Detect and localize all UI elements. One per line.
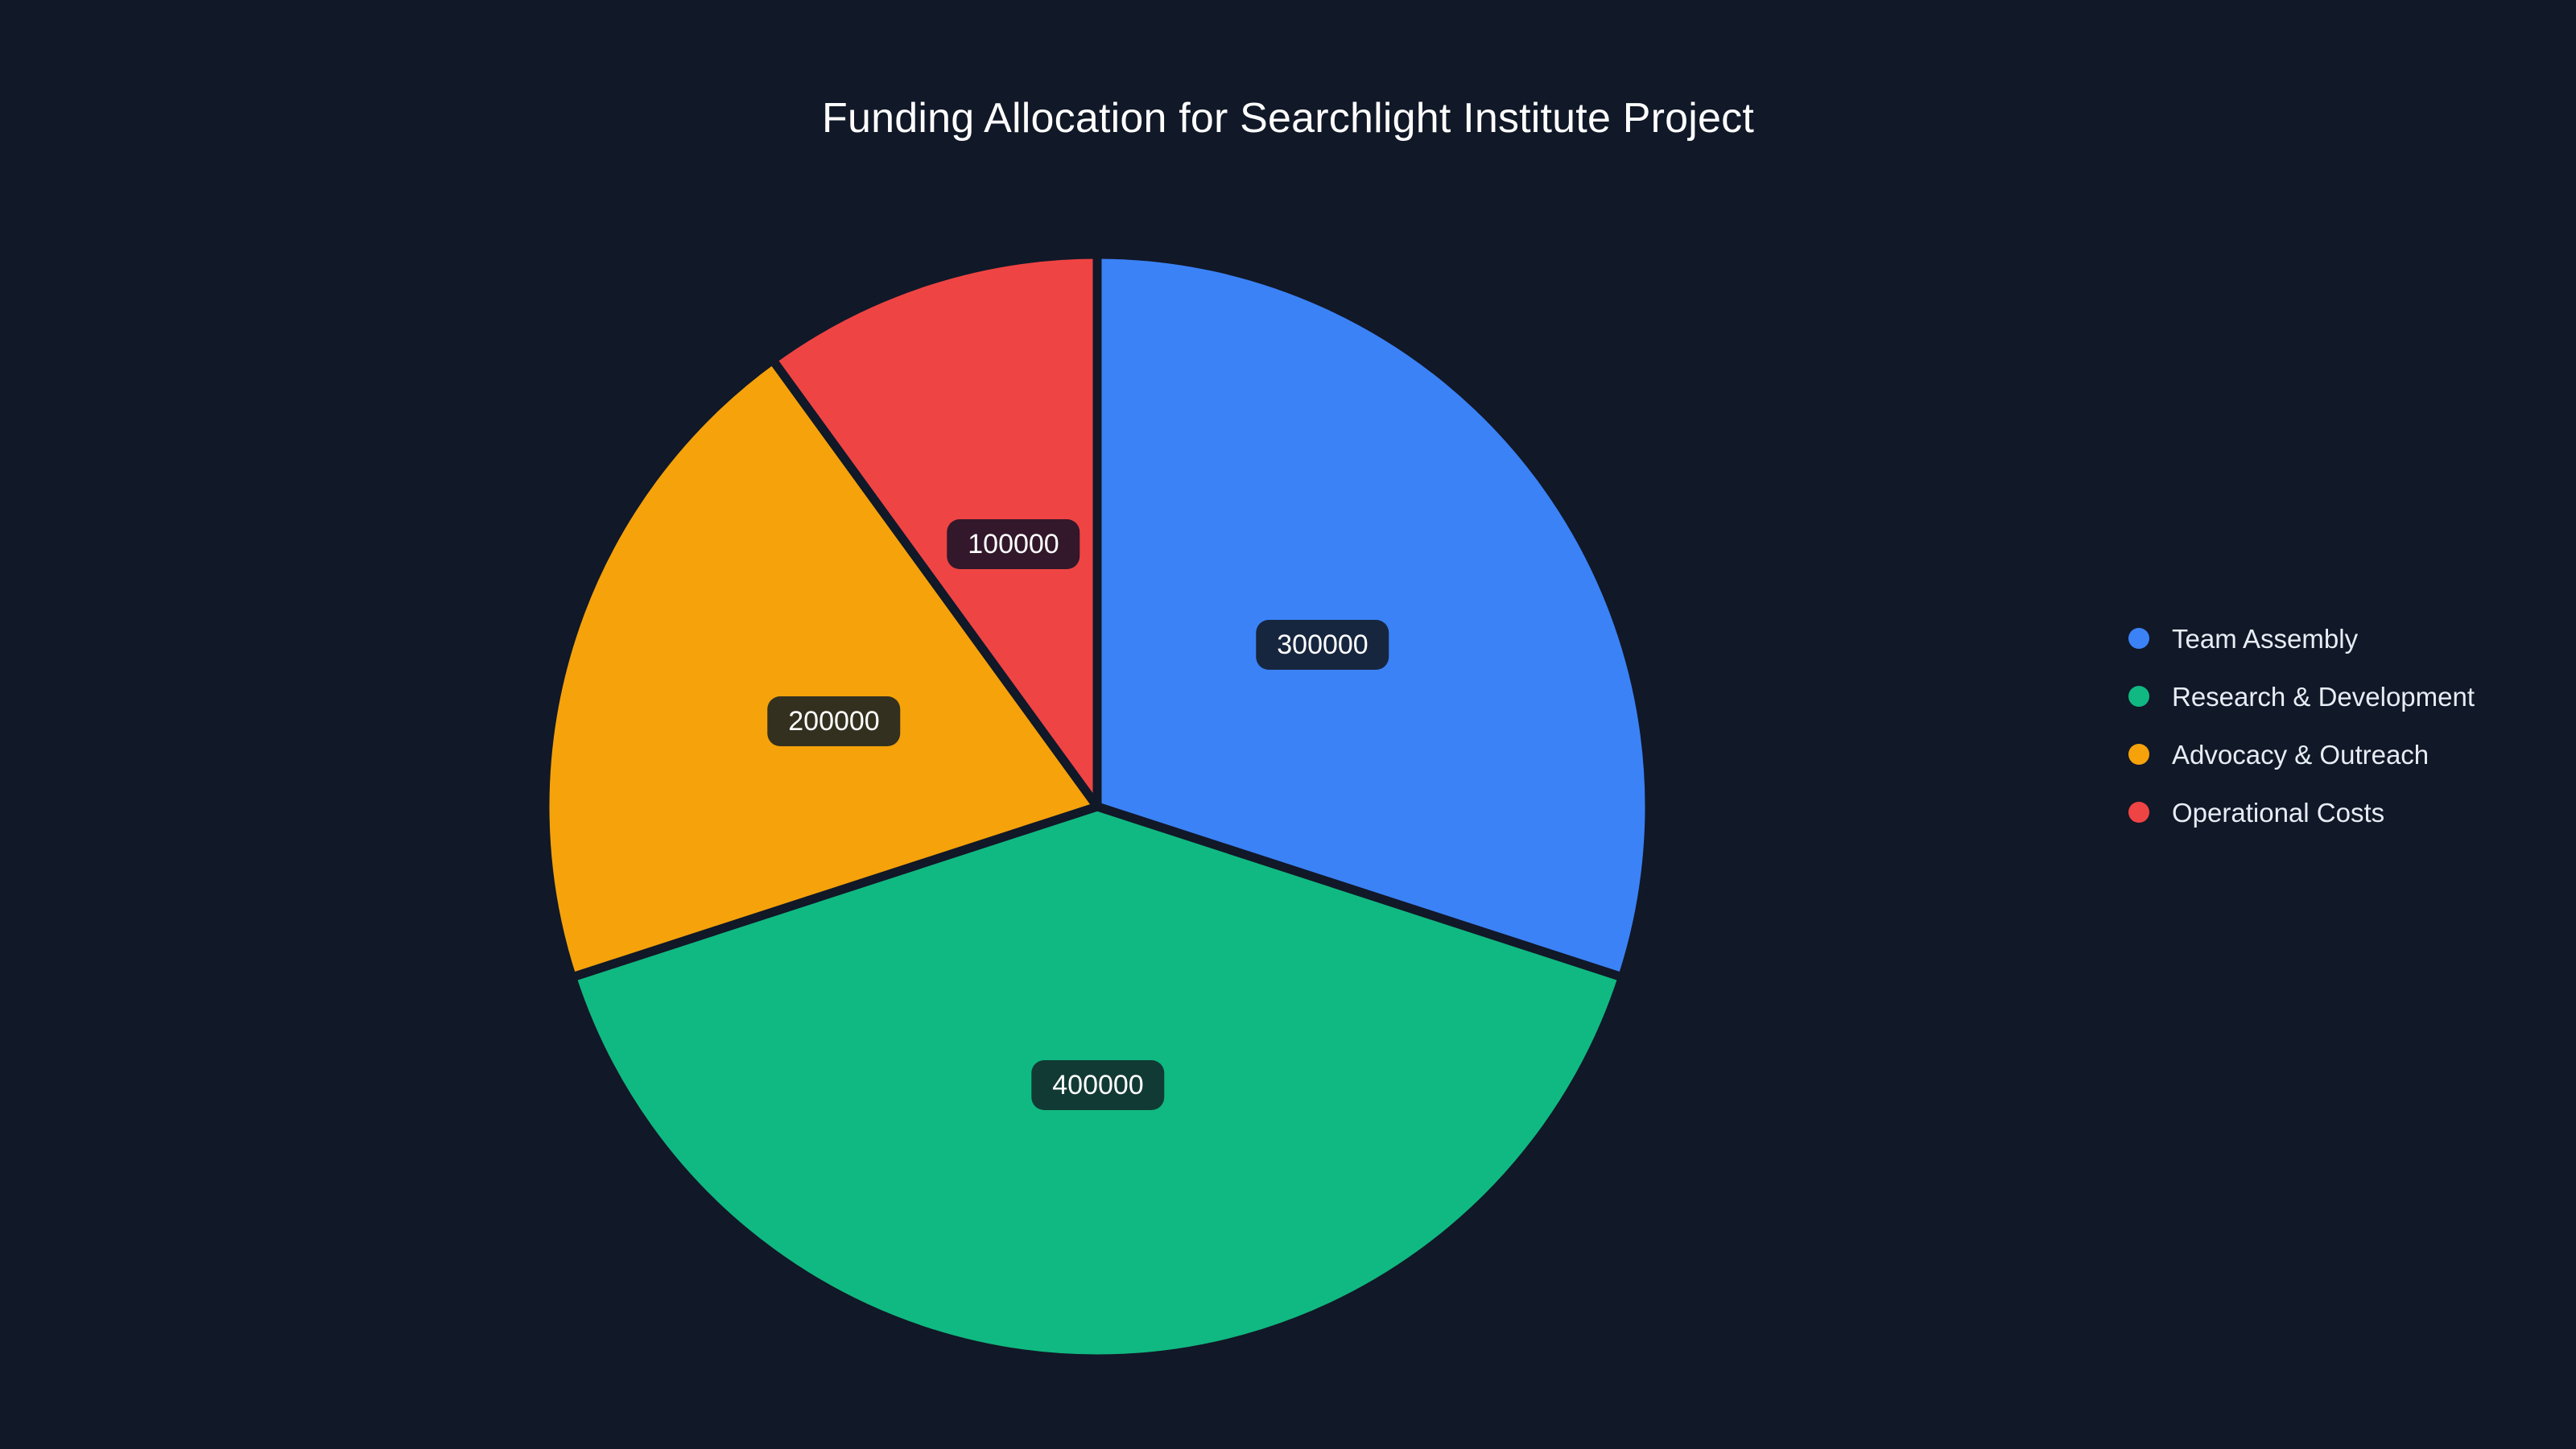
chart-canvas: Funding Allocation for Searchlight Insti… [0,0,2576,1449]
pie-slice-value-label: 100000 [947,519,1080,569]
chart-legend: Team AssemblyResearch & DevelopmentAdvoc… [2128,609,2475,841]
pie-slice-value-label: 400000 [1031,1060,1164,1110]
legend-item-label: Team Assembly [2172,625,2358,652]
legend-item[interactable]: Operational Costs [2128,783,2475,841]
legend-swatch-circle-icon [2128,686,2149,707]
legend-item-label: Advocacy & Outreach [2172,741,2429,768]
legend-item[interactable]: Advocacy & Outreach [2128,725,2475,783]
legend-swatch-circle-icon [2128,744,2149,765]
legend-item-label: Research & Development [2172,683,2475,710]
legend-item[interactable]: Research & Development [2128,667,2475,725]
legend-swatch-circle-icon [2128,628,2149,649]
legend-item[interactable]: Team Assembly [2128,609,2475,667]
legend-item-label: Operational Costs [2172,799,2384,826]
legend-swatch-circle-icon [2128,802,2149,823]
pie-slice-value-label: 300000 [1256,620,1389,670]
pie-slice-value-label: 200000 [767,696,900,746]
